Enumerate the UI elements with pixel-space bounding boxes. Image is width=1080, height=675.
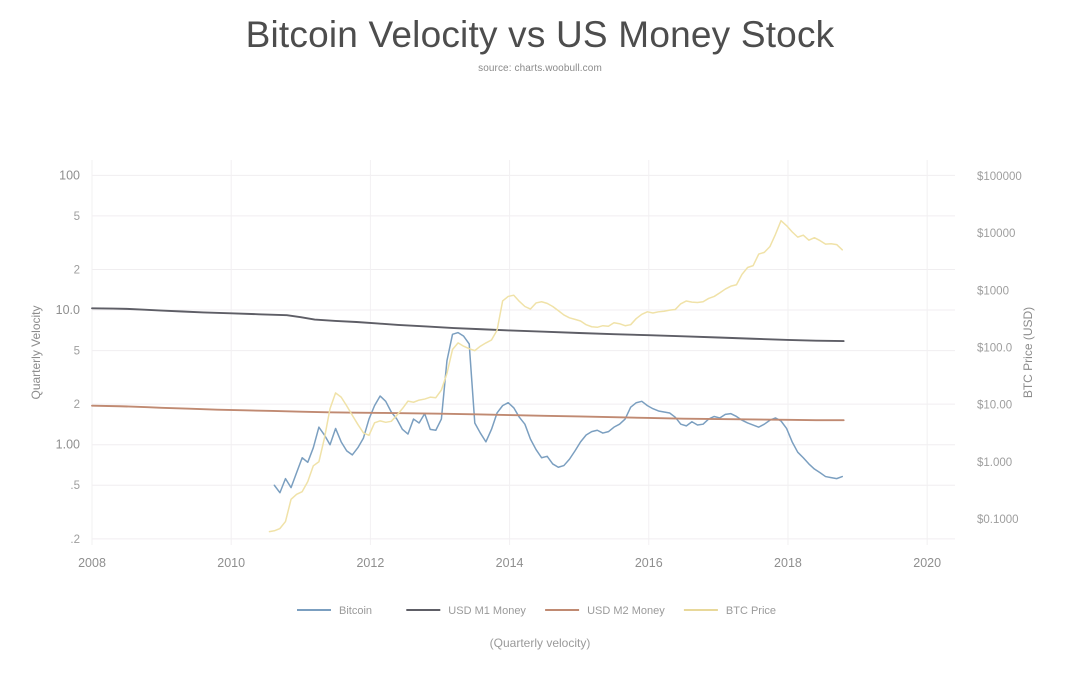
y-axis-left-title: Quarterly Velocity — [29, 305, 43, 399]
legend-item-usd-m1-money[interactable]: USD M1 Money — [406, 605, 526, 617]
chart-title: Bitcoin Velocity vs US Money Stock — [0, 14, 1080, 56]
y-axis-right-title: BTC Price (USD) — [1021, 307, 1035, 398]
y-axis-left-tick-label: 2 — [74, 264, 80, 276]
y-axis-right-tick-label: $1.000 — [977, 457, 1012, 469]
y-axis-left-tick-label: 5 — [74, 346, 80, 358]
horizontal-gridlines — [92, 175, 955, 538]
x-axis-ticks: 2008201020122014201620182020 — [78, 556, 941, 570]
chart-caption: (Quarterly velocity) — [0, 636, 1080, 650]
y-axis-left-tick-label: 100 — [59, 168, 80, 182]
y-axis-right-tick-label: $100.0 — [977, 342, 1012, 354]
chart-plot-area: 1005210.0521.00.5.2 $100000$10000$1000$1… — [0, 0, 1080, 625]
x-axis-tick-label: 2012 — [356, 556, 384, 570]
y-axis-right-tick-label: $10.00 — [977, 400, 1012, 412]
x-axis-tick-label: 2016 — [635, 556, 663, 570]
y-axis-left-tick-label: 1.00 — [56, 438, 80, 452]
y-axis-right-ticks: $100000$10000$1000$100.0$10.00$1.000$0.1… — [977, 171, 1022, 526]
y-axis-right-tick-label: $10000 — [977, 228, 1015, 240]
legend-item-btc-price[interactable]: BTC Price — [684, 605, 776, 617]
x-axis-tick-label: 2010 — [217, 556, 245, 570]
chart-legend: BitcoinUSD M1 MoneyUSD M2 MoneyBTC Price — [297, 605, 776, 617]
legend-item-usd-m1-money-label: USD M1 Money — [448, 605, 526, 617]
y-axis-left-ticks: 1005210.0521.00.5.2 — [56, 168, 80, 545]
y-axis-left-tick-label: 5 — [74, 211, 80, 223]
legend-item-btc-price-label: BTC Price — [726, 605, 776, 617]
x-axis-tick-label: 2008 — [78, 556, 106, 570]
axis-titles: Quarterly VelocityBTC Price (USD) — [29, 305, 1035, 399]
series-line-usd-m1-money — [92, 308, 844, 341]
vertical-gridlines — [92, 160, 927, 545]
x-axis-tick-label: 2018 — [774, 556, 802, 570]
y-axis-right-tick-label: $1000 — [977, 285, 1009, 297]
legend-item-bitcoin[interactable]: Bitcoin — [297, 605, 372, 617]
y-axis-right-tick-label: $100000 — [977, 171, 1022, 183]
x-axis-tick-label: 2020 — [913, 556, 941, 570]
y-axis-left-tick-label: .5 — [70, 480, 80, 492]
x-axis-tick-label: 2014 — [496, 556, 524, 570]
legend-item-usd-m2-money[interactable]: USD M2 Money — [545, 605, 665, 617]
y-axis-left-tick-label: .2 — [70, 534, 80, 546]
y-axis-left-tick-label: 10.0 — [56, 303, 80, 317]
legend-item-bitcoin-label: Bitcoin — [339, 605, 372, 617]
y-axis-left-tick-label: 2 — [74, 399, 80, 411]
chart-source-note: source: charts.woobull.com — [0, 63, 1080, 74]
chart-container: Bitcoin Velocity vs US Money Stock sourc… — [0, 0, 1080, 675]
legend-item-usd-m2-money-label: USD M2 Money — [587, 605, 665, 617]
y-axis-right-tick-label: $0.1000 — [977, 514, 1019, 526]
